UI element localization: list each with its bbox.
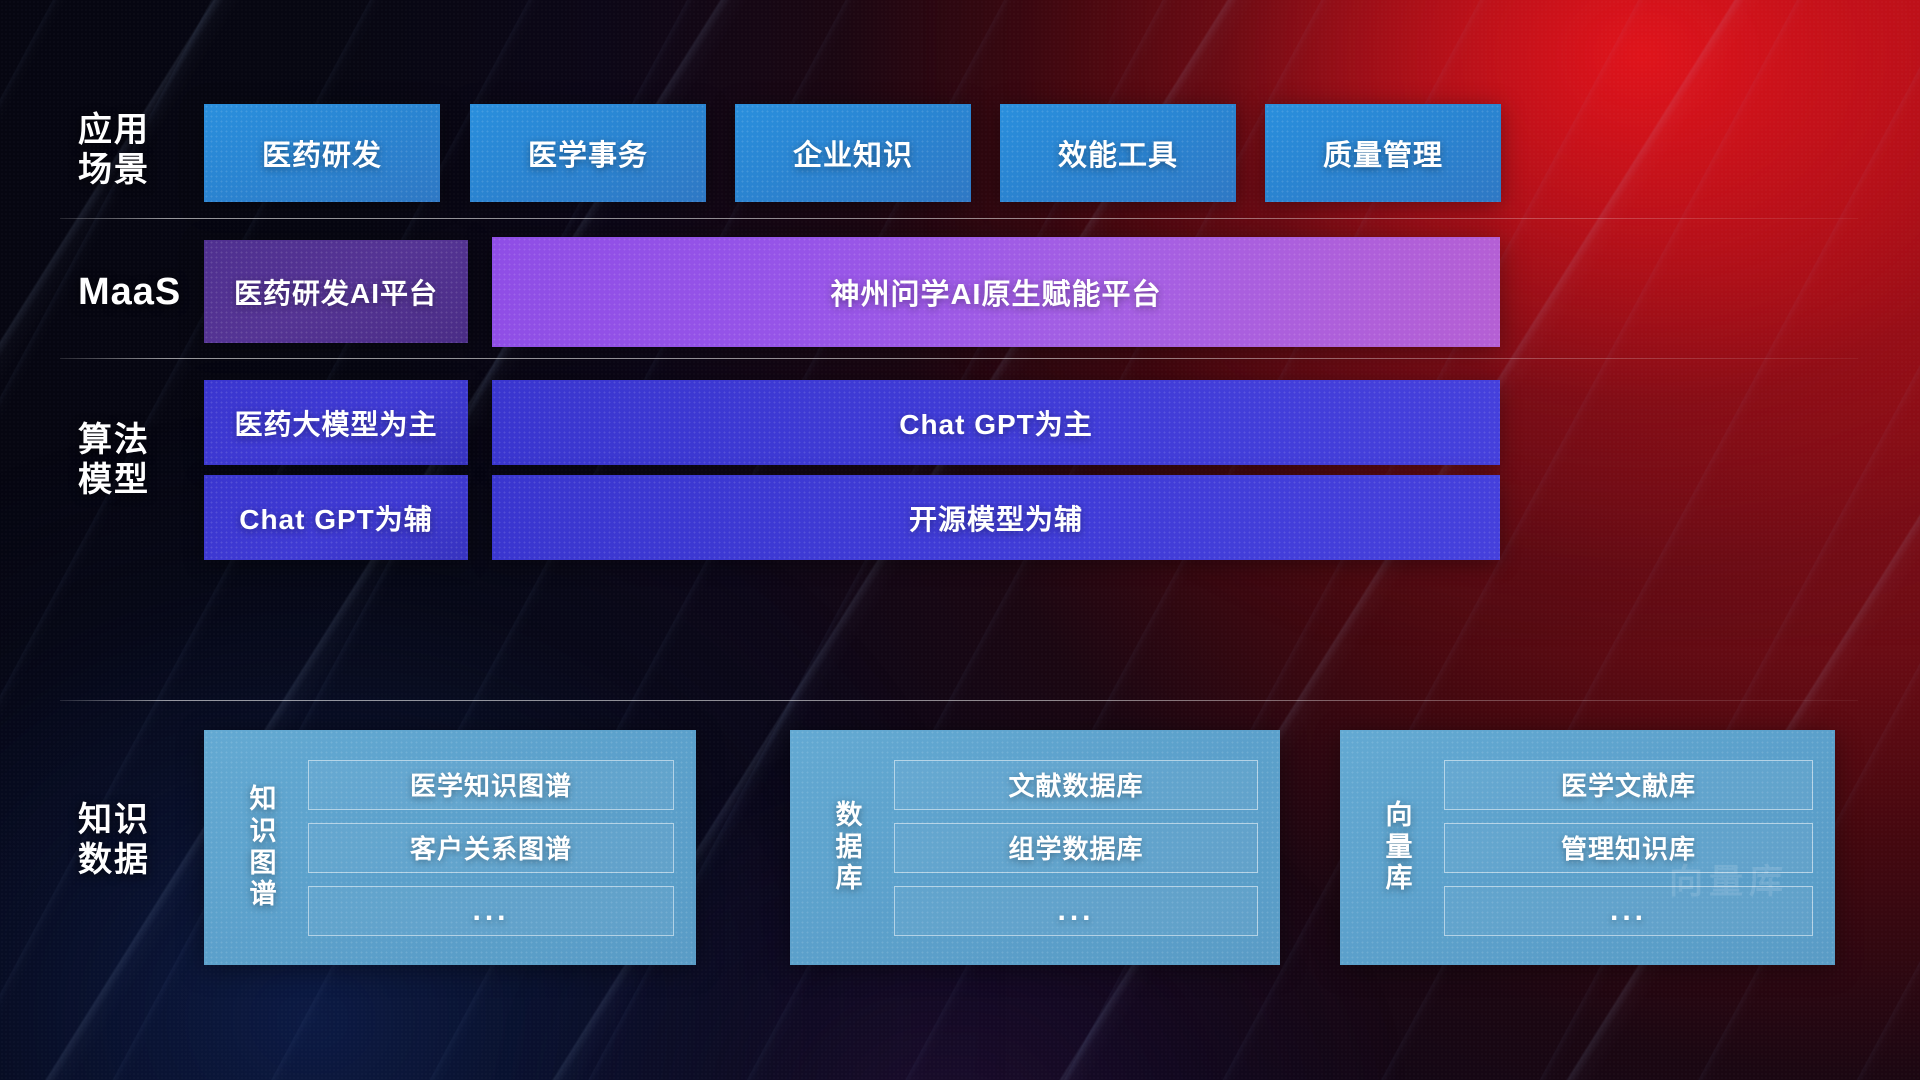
app-scenario-box-3[interactable]: 企业知识 — [735, 104, 971, 202]
divider-2 — [60, 358, 1858, 359]
app-scenario-label-1: 医药研发 — [262, 132, 382, 174]
algo-right-label-2: 开源模型为辅 — [909, 498, 1083, 538]
knowledge-item-1-3[interactable]: ... — [308, 886, 674, 936]
architecture-diagram: 应用 场景 医药研发 医学事务 企业知识 效能工具 质量管理 MaaS 医药研发… — [0, 0, 1920, 1080]
app-scenario-box-5[interactable]: 质量管理 — [1265, 104, 1501, 202]
algo-box-right-2[interactable]: 开源模型为辅 — [492, 475, 1500, 560]
knowledge-group-title-3: 向 量 库 — [1368, 800, 1430, 895]
knowledge-item-3-1[interactable]: 医学文献库 — [1444, 760, 1813, 810]
app-scenario-box-4[interactable]: 效能工具 — [1000, 104, 1236, 202]
knowledge-group-1[interactable]: 知 识 图 谱 医学知识图谱 客户关系图谱 ... — [204, 730, 696, 965]
knowledge-item-2-2[interactable]: 组学数据库 — [894, 823, 1258, 873]
divider-1 — [60, 218, 1858, 219]
algo-left-label-1: 医药大模型为主 — [234, 403, 437, 443]
app-scenario-label-4: 效能工具 — [1058, 132, 1178, 174]
knowledge-item-1-2[interactable]: 客户关系图谱 — [308, 823, 674, 873]
knowledge-item-3-2[interactable]: 管理知识库 — [1444, 823, 1813, 873]
app-scenario-box-1[interactable]: 医药研发 — [204, 104, 440, 202]
knowledge-item-list-1: 医学知识图谱 客户关系图谱 ... — [308, 760, 674, 936]
algo-box-left-1[interactable]: 医药大模型为主 — [204, 380, 468, 465]
maas-platform-box-right[interactable]: 神州问学AI原生赋能平台 — [492, 237, 1500, 347]
divider-3 — [60, 700, 1858, 701]
knowledge-group-2[interactable]: 数 据 库 文献数据库 组学数据库 ... — [790, 730, 1280, 965]
knowledge-group-3[interactable]: 向量库 向 量 库 医学文献库 管理知识库 ... — [1340, 730, 1835, 965]
algo-box-left-2[interactable]: Chat GPT为辅 — [204, 475, 468, 560]
knowledge-item-3-3[interactable]: ... — [1444, 886, 1813, 936]
algo-left-label-2: Chat GPT为辅 — [239, 498, 433, 538]
algo-box-right-1[interactable]: Chat GPT为主 — [492, 380, 1500, 465]
app-scenario-label-3: 企业知识 — [793, 132, 913, 174]
knowledge-item-list-2: 文献数据库 组学数据库 ... — [894, 760, 1258, 936]
knowledge-item-2-1[interactable]: 文献数据库 — [894, 760, 1258, 810]
algo-right-label-1: Chat GPT为主 — [899, 403, 1093, 443]
knowledge-item-2-3[interactable]: ... — [894, 886, 1258, 936]
knowledge-group-title-2: 数 据 库 — [818, 800, 880, 895]
maas-right-label: 神州问学AI原生赋能平台 — [830, 271, 1161, 313]
app-scenario-label-2: 医学事务 — [528, 132, 648, 174]
knowledge-group-title-1: 知 识 图 谱 — [232, 784, 294, 910]
app-scenario-label-5: 质量管理 — [1323, 132, 1443, 174]
maas-left-label: 医药研发AI平台 — [234, 272, 438, 312]
app-scenario-box-2[interactable]: 医学事务 — [470, 104, 706, 202]
knowledge-item-list-3: 医学文献库 管理知识库 ... — [1444, 760, 1813, 936]
maas-platform-box-left[interactable]: 医药研发AI平台 — [204, 240, 468, 343]
knowledge-item-1-1[interactable]: 医学知识图谱 — [308, 760, 674, 810]
